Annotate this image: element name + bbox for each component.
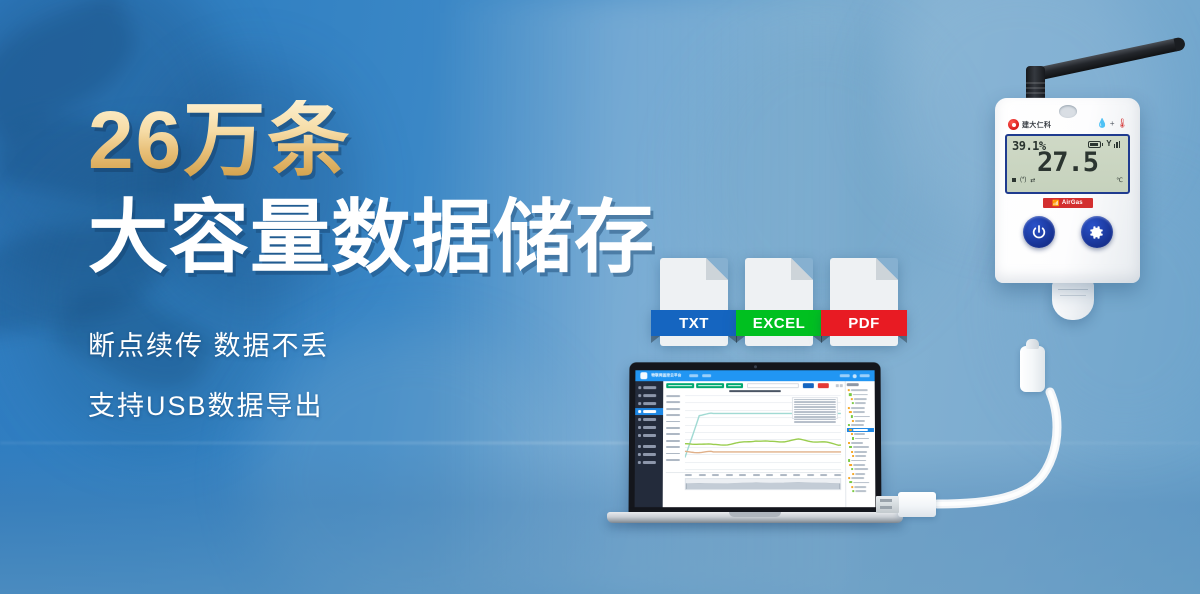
- filter-tag-type[interactable]: [726, 383, 743, 388]
- sidebar-item[interactable]: [635, 432, 663, 439]
- lcd-display: 39.1% Y 27.5 (*) ⇄ ℃: [1005, 134, 1130, 194]
- tree-status-dot: [848, 407, 850, 409]
- file-format-icons: TXT EXCEL PDF: [660, 258, 898, 346]
- file-label-band: TXT: [651, 310, 737, 336]
- lcd-status-icons: Y: [1088, 140, 1123, 148]
- probe-seam: [1058, 289, 1088, 290]
- headline-gold: 26万条: [88, 100, 351, 182]
- sidebar-icon: [638, 445, 641, 448]
- chart-title: [666, 390, 843, 393]
- sidebar-icon: [638, 410, 641, 413]
- sidebar-item[interactable]: [635, 443, 663, 450]
- tree-status-dot: [849, 411, 851, 413]
- tree-status-dot: [852, 455, 854, 457]
- tree-status-dot: [849, 446, 851, 448]
- tree-status-dot: [851, 398, 853, 400]
- usb-a-connector: [898, 492, 936, 517]
- tree-status-dot: [848, 389, 850, 391]
- y-tick: [666, 421, 680, 423]
- x-tick: [780, 474, 787, 476]
- tree-status-dot: [850, 481, 852, 483]
- device-status-icons: 💧 + 🌡: [1097, 119, 1128, 128]
- tree-row-label: [854, 433, 865, 435]
- print-icon[interactable]: [840, 384, 843, 387]
- range-preview: [686, 479, 840, 489]
- tree-row-label: [854, 416, 870, 418]
- query-button[interactable]: [803, 383, 814, 388]
- tree-row-label: [853, 446, 869, 448]
- y-tick: [666, 433, 680, 435]
- chart-plot-area: [666, 395, 843, 473]
- x-tick: [698, 474, 705, 476]
- brand-name: 建大仁科: [1022, 120, 1051, 130]
- dashboard-content: [663, 381, 846, 507]
- sidebar-icon: [638, 461, 641, 464]
- tree-status-dot: [848, 424, 850, 426]
- tree-row-label: [851, 442, 863, 444]
- export-icon[interactable]: [835, 384, 838, 387]
- x-tick: [834, 474, 841, 476]
- laptop: 物联网监控云平台: [607, 362, 903, 537]
- temperature-unit: ℃: [1116, 177, 1123, 184]
- app-logo-icon: [640, 372, 647, 379]
- sidebar-icon: [638, 418, 641, 421]
- laptop-lid: 物联网监控云平台: [629, 362, 882, 514]
- dashboard-header: 物联网监控云平台: [635, 370, 874, 381]
- sensor-device: 建大仁科 💧 + 🌡 39.1% Y 27.5: [995, 98, 1140, 283]
- y-tick: [666, 427, 680, 429]
- sidebar-icon: [638, 426, 641, 429]
- gear-icon: [1088, 224, 1105, 241]
- headline-white: 大容量数据储存: [88, 196, 708, 280]
- tree-row-label: [851, 477, 864, 479]
- tooltip-line: [794, 416, 836, 417]
- tree-status-dot: [852, 437, 854, 439]
- mounting-hole: [1059, 105, 1077, 118]
- tree-row-label: [856, 473, 866, 475]
- y-tick: [666, 401, 680, 403]
- tree-status-dot: [849, 394, 851, 396]
- tooltip-line: [794, 407, 836, 408]
- signal-antenna-glyph: Y: [1106, 139, 1111, 148]
- filter-bar[interactable]: [666, 383, 843, 388]
- menu-item[interactable]: [703, 374, 712, 377]
- tooltip-line: [794, 399, 836, 400]
- usb-a-metal-tip: [876, 496, 899, 513]
- settings-button[interactable]: [1081, 216, 1113, 248]
- chart-toolbar[interactable]: [835, 384, 842, 387]
- chart-series-温度: [685, 439, 841, 445]
- tree-status-dot: [848, 459, 850, 461]
- antenna: [1018, 28, 1178, 108]
- x-tick: [739, 474, 746, 476]
- tree-row-label: [851, 407, 865, 409]
- tree-status-dot: [849, 429, 851, 431]
- file-label-text: EXCEL: [753, 315, 806, 332]
- sidebar-icon: [638, 394, 641, 397]
- webcam-icon: [754, 365, 757, 368]
- dashboard-app: 物联网监控云平台: [635, 370, 876, 507]
- usb-cable: [880, 330, 1120, 540]
- x-axis-labels: [666, 473, 843, 476]
- tree-status-dot: [851, 433, 853, 435]
- tree-status-dot: [852, 490, 854, 492]
- device-buttons[interactable]: [995, 216, 1140, 248]
- sidebar-label: [643, 434, 656, 436]
- header-action[interactable]: [840, 374, 850, 377]
- temperature-reading: 27.5: [1012, 150, 1123, 176]
- tree-row-label: [855, 403, 866, 405]
- tree-row-label: [854, 486, 866, 488]
- tree-panel-title: [847, 383, 859, 386]
- tooltip-line: [794, 421, 836, 422]
- sidebar-label: [643, 461, 656, 464]
- tooltip-line: [794, 419, 836, 420]
- sidebar-label: [643, 426, 656, 428]
- tree-status-dot: [851, 486, 853, 488]
- brand-logo-icon: [1008, 119, 1019, 130]
- sidebar-item[interactable]: [635, 392, 663, 399]
- sidebar-label: [643, 445, 656, 448]
- power-button-icon: [1031, 224, 1047, 240]
- sidebar-icon: [638, 453, 641, 456]
- sidebar-item[interactable]: [635, 451, 663, 458]
- tree-row-label: [855, 455, 866, 457]
- sidebar-item[interactable]: [635, 424, 663, 431]
- usb-indicator-icon: ⇄: [1030, 177, 1035, 184]
- file-label-band: EXCEL: [736, 310, 822, 336]
- y-tick: [666, 459, 680, 461]
- banner-stage: 26万条 大容量数据储存 断点续传 数据不丢 支持USB数据导出 TXT EXC…: [0, 0, 1200, 594]
- tree-row-label: [853, 429, 868, 431]
- sidebar-item[interactable]: [635, 416, 663, 423]
- usb-c-connector: [1020, 346, 1045, 392]
- notification-icon[interactable]: [853, 374, 857, 378]
- antenna-rod: [1035, 37, 1186, 81]
- x-tick: [807, 474, 814, 476]
- airgas-label: AirGas: [1062, 200, 1083, 206]
- filter-tag-label: [728, 385, 741, 387]
- sidebar-label: [643, 453, 656, 456]
- tooltip-line: [794, 411, 836, 412]
- filter-tag-label: [668, 385, 692, 387]
- sidebar-item[interactable]: [635, 384, 663, 391]
- tooltip-line: [794, 402, 836, 403]
- y-tick: [666, 395, 680, 397]
- laptop-screen: 物联网监控云平台: [635, 370, 876, 507]
- sidebar-label: [643, 402, 656, 404]
- usb-contact: [880, 499, 892, 502]
- x-tick: [793, 474, 800, 476]
- power-button[interactable]: [1023, 216, 1055, 248]
- sidebar-icon: [638, 402, 641, 405]
- alarm-indicator-icon: (*): [1020, 177, 1026, 183]
- sidebar-item[interactable]: [635, 400, 663, 407]
- sidebar-item[interactable]: [635, 459, 663, 466]
- water-drop-icon: 💧: [1097, 119, 1108, 128]
- dashboard-title: 物联网监控云平台: [651, 373, 681, 378]
- y-tick: [666, 440, 680, 442]
- file-label-text: PDF: [848, 315, 880, 332]
- sidebar-label: [643, 386, 656, 388]
- tree-row-label: [851, 389, 868, 391]
- y-tick: [666, 446, 680, 448]
- excel-file-icon: EXCEL: [745, 258, 813, 346]
- chart-title-text: [729, 390, 781, 392]
- dashboard-body: [635, 381, 876, 507]
- txt-file-icon: TXT: [660, 258, 728, 346]
- y-axis-labels: [666, 395, 684, 465]
- tree-row-label: [855, 420, 865, 422]
- tree-row-label: [853, 482, 869, 484]
- tree-row-label: [852, 394, 867, 396]
- tree-row-label: [852, 411, 864, 413]
- tree-row-label: [854, 398, 867, 400]
- probe-seam: [1060, 295, 1086, 296]
- wifi-icon: 📶: [1052, 200, 1060, 207]
- tree-status-dot: [852, 420, 854, 422]
- sidebar-label: [643, 410, 656, 412]
- tree-row-label: [854, 468, 868, 470]
- lcd-indicator-group: (*) ⇄: [1012, 177, 1035, 184]
- filter-tag-label: [698, 385, 722, 387]
- tooltip-line: [794, 404, 836, 405]
- tree-status-dot: [851, 415, 853, 417]
- x-tick: [820, 474, 827, 476]
- tree-row-label: [851, 460, 866, 462]
- signal-bars-icon: Y: [1106, 140, 1123, 148]
- tree-status-dot: [848, 477, 850, 479]
- subtext-line-1: 断点续传 数据不丢: [88, 332, 708, 362]
- tree-row-label: [854, 451, 867, 453]
- sensor-probe: [1052, 280, 1094, 320]
- tree-status-dot: [851, 451, 853, 453]
- sidebar-label: [643, 394, 656, 396]
- tree-row-label: [851, 424, 864, 426]
- sidebar-icon: [638, 386, 641, 389]
- x-tick: [712, 474, 719, 476]
- tree-status-dot: [852, 402, 854, 404]
- tree-row-label: [853, 464, 865, 466]
- reset-button[interactable]: [818, 383, 829, 388]
- tree-status-dot: [848, 442, 850, 444]
- dashboard-menu[interactable]: [690, 374, 712, 377]
- tree-rows[interactable]: [847, 388, 875, 493]
- chart-tooltip: [792, 397, 838, 419]
- file-label-text: TXT: [679, 315, 709, 332]
- y-tick: [666, 453, 680, 455]
- sidebar-label: [643, 418, 656, 420]
- y-tick: [666, 414, 680, 416]
- menu-item[interactable]: [690, 374, 699, 377]
- user-menu[interactable]: [860, 374, 870, 377]
- airgas-badge: 📶 AirGas: [1043, 198, 1093, 208]
- date-range-input[interactable]: [747, 383, 799, 388]
- x-tick: [685, 474, 692, 476]
- chart-range-slider[interactable]: [685, 478, 841, 490]
- thermometer-icon: 🌡: [1117, 119, 1128, 128]
- device-brand: 建大仁科: [1008, 119, 1051, 130]
- dashboard-sidebar[interactable]: [635, 381, 664, 507]
- tree-row-label: [856, 490, 867, 492]
- dashboard-header-actions[interactable]: [840, 374, 870, 378]
- chart-series-露点: [685, 451, 841, 452]
- filter-tag-point[interactable]: [696, 383, 724, 388]
- tooltip-line: [794, 409, 836, 410]
- sidebar-icon: [638, 434, 641, 437]
- tree-status-dot: [852, 473, 854, 475]
- usb-contact: [880, 506, 892, 509]
- tree-status-dot: [851, 468, 853, 470]
- sidebar-item-active[interactable]: [635, 408, 663, 415]
- laptop-latch-notch: [729, 512, 781, 517]
- x-tick: [753, 474, 760, 476]
- device-tree-panel[interactable]: [845, 381, 876, 507]
- x-tick: [726, 474, 733, 476]
- tree-status-dot: [850, 464, 852, 466]
- filter-tag-group[interactable]: [666, 383, 694, 388]
- plus-icon: +: [1110, 120, 1115, 128]
- x-tick: [766, 474, 773, 476]
- record-indicator-icon: [1012, 178, 1016, 182]
- tree-row[interactable]: [847, 489, 874, 493]
- tree-row-label: [855, 438, 869, 440]
- tooltip-line: [794, 414, 836, 415]
- y-tick: [666, 408, 680, 410]
- battery-icon: [1088, 141, 1101, 148]
